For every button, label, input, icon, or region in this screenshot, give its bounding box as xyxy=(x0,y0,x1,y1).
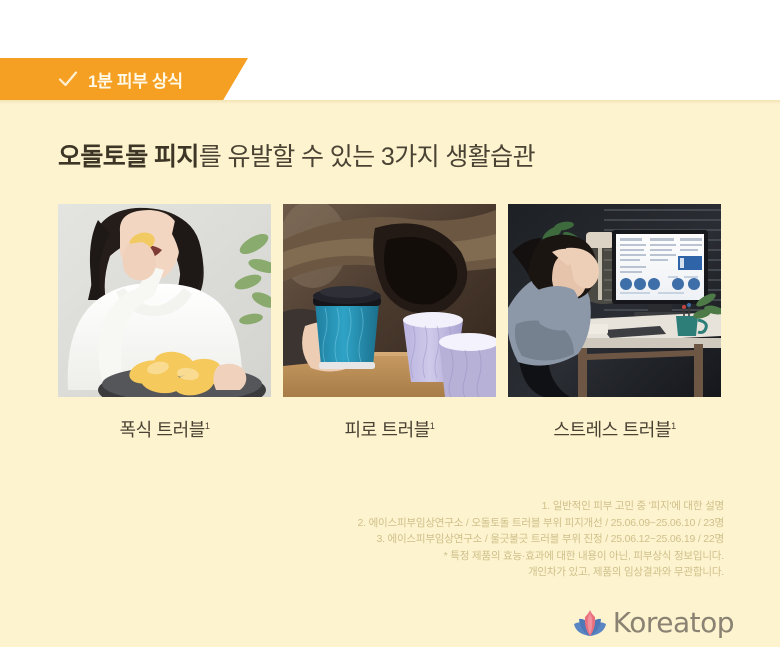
caption-text: 스트레스 트러블 xyxy=(553,420,671,440)
photo-caption-stress: 스트레스 트러블1 xyxy=(508,416,721,442)
banner-row: 1분 피부 상식 xyxy=(0,58,780,100)
footnote-line-5: 개인차가 있고, 제품의 임상결과와 무관합니다. xyxy=(204,564,724,581)
photo-stress xyxy=(508,204,721,397)
footnote-line-2: 2. 에이스피부임상연구소 / 오돌토돌 트러블 부위 피지개선 / 25.06… xyxy=(204,515,724,532)
photo-caption-fatigue: 피로 트러블1 xyxy=(283,416,496,442)
caption-text: 피로 트러블 xyxy=(344,420,429,440)
stressed-person-at-desk-photo xyxy=(508,204,721,397)
top-white-strip xyxy=(0,0,780,58)
footnote-line-3: 3. 에이스피부임상연구소 / 울긋불긋 트러블 부위 진정 / 25.06.1… xyxy=(204,531,724,548)
photo-fatigue xyxy=(283,204,496,397)
caption-superscript: 1 xyxy=(430,421,435,431)
banner-content: 1분 피부 상식 xyxy=(58,67,183,92)
photo-eating xyxy=(58,204,271,397)
footnotes: 1. 일반적인 피부 고민 중 '피지'에 대한 설명 2. 에이스피부임상연구… xyxy=(204,498,724,581)
page-title-bold: 오돌토돌 피지 xyxy=(58,143,199,171)
infographic-page: 1분 피부 상식 오돌토돌 피지를 유발할 수 있는 3가지 생활습관 xyxy=(0,0,780,647)
caption-superscript: 1 xyxy=(671,421,676,431)
caption-text: 폭식 트러블 xyxy=(119,420,204,440)
footnote-line-4: * 특정 제품의 효능·효과에 대한 내용이 아닌, 피부상식 정보입니다. xyxy=(204,548,724,565)
banner-label: 1분 피부 상식 xyxy=(88,67,183,92)
brand-logo: Koreatop xyxy=(573,606,734,639)
photo-caption-eating: 폭식 트러블1 xyxy=(58,416,271,442)
lotus-icon xyxy=(573,608,607,638)
section-banner: 1분 피부 상식 xyxy=(0,58,248,100)
woman-eating-chips-photo xyxy=(58,204,271,397)
caption-superscript: 1 xyxy=(205,421,210,431)
photo-row xyxy=(58,204,722,397)
page-title: 오돌토돌 피지를 유발할 수 있는 3가지 생활습관 xyxy=(58,137,535,173)
caption-row: 폭식 트러블1 피로 트러블1 스트레스 트러블1 xyxy=(58,416,722,442)
banner-underline xyxy=(0,100,780,104)
brand-name: Koreatop xyxy=(613,606,734,639)
check-icon xyxy=(58,70,78,88)
tired-person-coffee-cup-photo xyxy=(283,204,496,397)
page-title-rest: 를 유발할 수 있는 3가지 생활습관 xyxy=(199,143,535,171)
footnote-line-1: 1. 일반적인 피부 고민 중 '피지'에 대한 설명 xyxy=(204,498,724,515)
